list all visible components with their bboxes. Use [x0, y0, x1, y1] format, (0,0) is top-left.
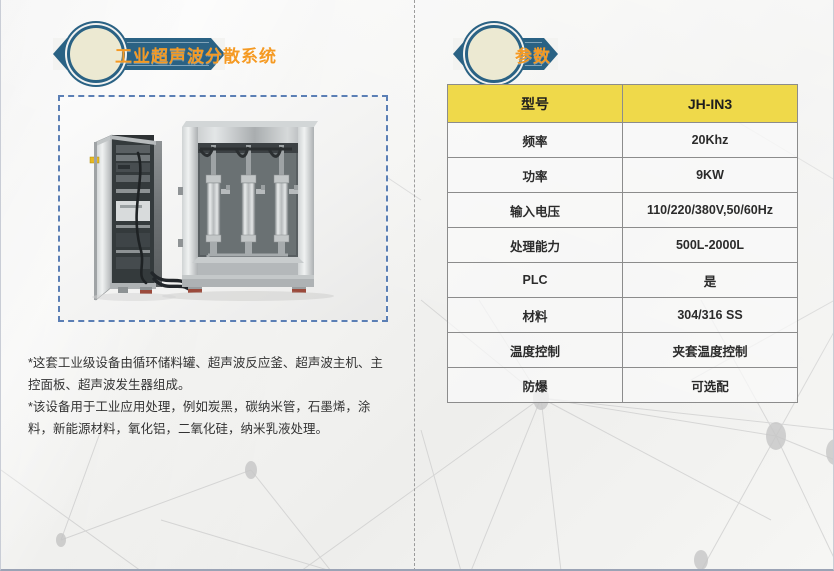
spec-row-label: 材料 [448, 298, 623, 333]
spec-row-value: 可选配 [623, 368, 798, 403]
panel-divider [414, 0, 415, 571]
spec-row-value: 是 [623, 263, 798, 298]
product-description: *这套工业级设备由循环储料罐、超声波反应釜、超声波主机、主控面板、超声波发生器组… [28, 352, 388, 440]
spec-table-header-row: 型号 JH-IN3 [448, 85, 798, 123]
right-banner-title: 参数 [515, 42, 551, 67]
left-banner: 工业超声波分散系统 [53, 38, 225, 70]
spec-row-value: 304/316 SS [623, 298, 798, 333]
spec-row-label: 功率 [448, 158, 623, 193]
left-banner-title: 工业超声波分散系统 [115, 42, 277, 67]
specification-table: 型号 JH-IN3 频率 20Khz 功率 9KW 输入电压 110/220/3… [447, 84, 798, 403]
table-row: PLC 是 [448, 263, 798, 298]
spec-row-label: 处理能力 [448, 228, 623, 263]
product-photo [60, 97, 386, 320]
product-photo-frame [58, 95, 388, 322]
spec-row-label: 频率 [448, 123, 623, 158]
spec-row-value: 500L-2000L [623, 228, 798, 263]
table-row: 输入电压 110/220/380V,50/60Hz [448, 193, 798, 228]
spec-row-label: 防爆 [448, 368, 623, 403]
spec-header-label: 型号 [448, 85, 623, 123]
spec-row-label: 输入电压 [448, 193, 623, 228]
table-row: 处理能力 500L-2000L [448, 228, 798, 263]
table-row: 频率 20Khz [448, 123, 798, 158]
table-row: 温度控制 夹套温度控制 [448, 333, 798, 368]
spec-header-value: JH-IN3 [623, 85, 798, 123]
description-line-1: *这套工业级设备由循环储料罐、超声波反应釜、超声波主机、主控面板、超声波发生器组… [28, 352, 388, 396]
spec-row-value: 20Khz [623, 123, 798, 158]
description-line-2: *该设备用于工业应用处理，例如炭黑，碳纳米管，石墨烯，涂料，新能源材料，氧化铝，… [28, 396, 388, 440]
spec-row-value: 110/220/380V,50/60Hz [623, 193, 798, 228]
spec-table-body: 型号 JH-IN3 频率 20Khz 功率 9KW 输入电压 110/220/3… [448, 85, 798, 403]
spec-row-value: 9KW [623, 158, 798, 193]
spec-row-value: 夹套温度控制 [623, 333, 798, 368]
table-row: 防爆 可选配 [448, 368, 798, 403]
spec-row-label: 温度控制 [448, 333, 623, 368]
spec-row-label: PLC [448, 263, 623, 298]
table-row: 功率 9KW [448, 158, 798, 193]
right-banner: 参数 [453, 38, 558, 70]
slide-page: 工业超声波分散系统 [0, 0, 834, 571]
table-row: 材料 304/316 SS [448, 298, 798, 333]
